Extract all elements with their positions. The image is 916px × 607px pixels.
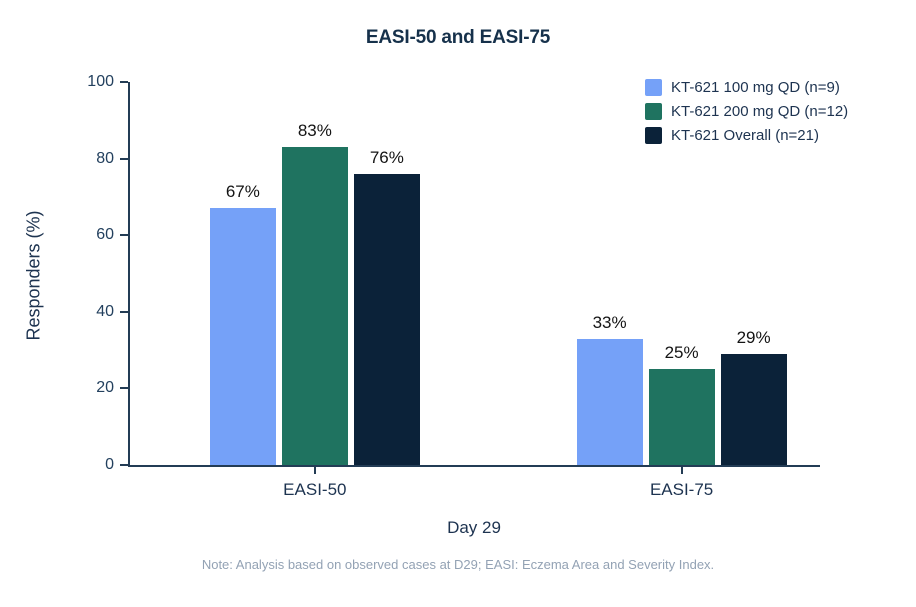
bar-value-label: 83% [298, 121, 332, 141]
y-axis-tick [120, 158, 128, 160]
y-axis-tick-label: 0 [105, 456, 114, 474]
x-axis-tick [314, 465, 316, 474]
bar[interactable] [649, 369, 715, 465]
x-axis-title: Day 29 [128, 518, 820, 538]
bar[interactable] [282, 147, 348, 465]
x-axis-category-label: EASI-50 [283, 480, 346, 500]
chart-title: EASI-50 and EASI-75 [0, 27, 916, 49]
y-axis-tick [120, 311, 128, 313]
y-axis-tick-label: 20 [96, 379, 114, 397]
x-axis-line [128, 465, 820, 467]
bar-value-label: 33% [593, 313, 627, 333]
bar-value-label: 29% [737, 328, 771, 348]
chart-footnote: Note: Analysis based on observed cases a… [0, 557, 916, 572]
bar-value-label: 76% [370, 148, 404, 168]
y-axis-tick [120, 81, 128, 83]
bar-value-label: 67% [226, 182, 260, 202]
y-axis-tick-label: 60 [96, 226, 114, 244]
y-axis-tick [120, 464, 128, 466]
y-axis-tick-label: 100 [87, 73, 114, 91]
y-axis-tick [120, 387, 128, 389]
y-axis-tick-label: 80 [96, 150, 114, 168]
bar[interactable] [577, 339, 643, 465]
x-axis-category-label: EASI-75 [650, 480, 713, 500]
chart-container: EASI-50 and EASI-75 KT-621 100 mg QD (n=… [0, 0, 916, 607]
y-axis-title: Responders (%) [24, 126, 45, 426]
y-axis-tick [120, 234, 128, 236]
bar[interactable] [721, 354, 787, 465]
y-axis-tick-label: 40 [96, 303, 114, 321]
bar[interactable] [210, 208, 276, 465]
y-axis-line [128, 82, 130, 465]
bar-value-label: 25% [665, 343, 699, 363]
x-axis-tick [681, 465, 683, 474]
plot-area: 020406080100 67%83%76%33%25%29% EASI-50E… [128, 82, 820, 465]
bar[interactable] [354, 174, 420, 465]
